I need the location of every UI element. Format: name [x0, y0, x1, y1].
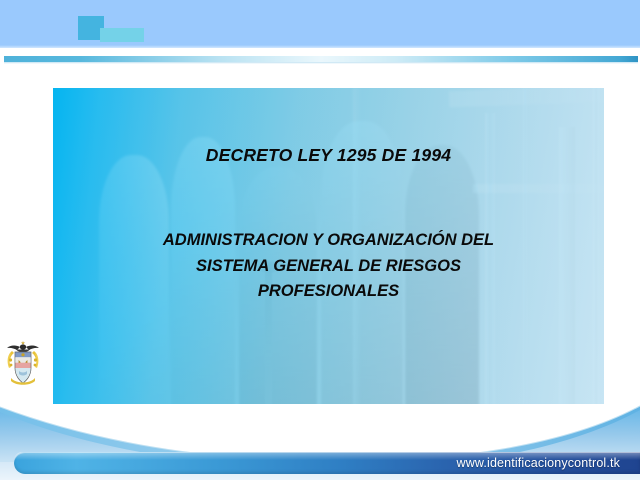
- decor-square-light-icon: [100, 28, 144, 42]
- slide-subtitle-line-2: SISTEMA GENERAL DE RIESGOS: [64, 254, 593, 280]
- footer-website-url[interactable]: www.identificacionycontrol.tk: [457, 456, 620, 470]
- header-divider-bar: [4, 56, 638, 62]
- slide-subtitle: ADMINISTRACION Y ORGANIZACIÓN DEL SISTEM…: [64, 228, 593, 305]
- content-panel: DECRETO LEY 1295 DE 1994 ADMINISTRACION …: [53, 88, 604, 413]
- slide-title: DECRETO LEY 1295 DE 1994: [206, 145, 451, 166]
- footer-bar: www.identificacionycontrol.tk: [14, 452, 640, 474]
- colombia-coat-of-arms-icon: [4, 338, 42, 388]
- presentation-slide: DECRETO LEY 1295 DE 1994 ADMINISTRACION …: [0, 0, 640, 480]
- slide-text-block: DECRETO LEY 1295 DE 1994 ADMINISTRACION …: [53, 88, 604, 413]
- slide-subtitle-line-1: ADMINISTRACION Y ORGANIZACIÓN DEL: [64, 228, 593, 254]
- slide-subtitle-line-3: PROFESIONALES: [64, 279, 593, 305]
